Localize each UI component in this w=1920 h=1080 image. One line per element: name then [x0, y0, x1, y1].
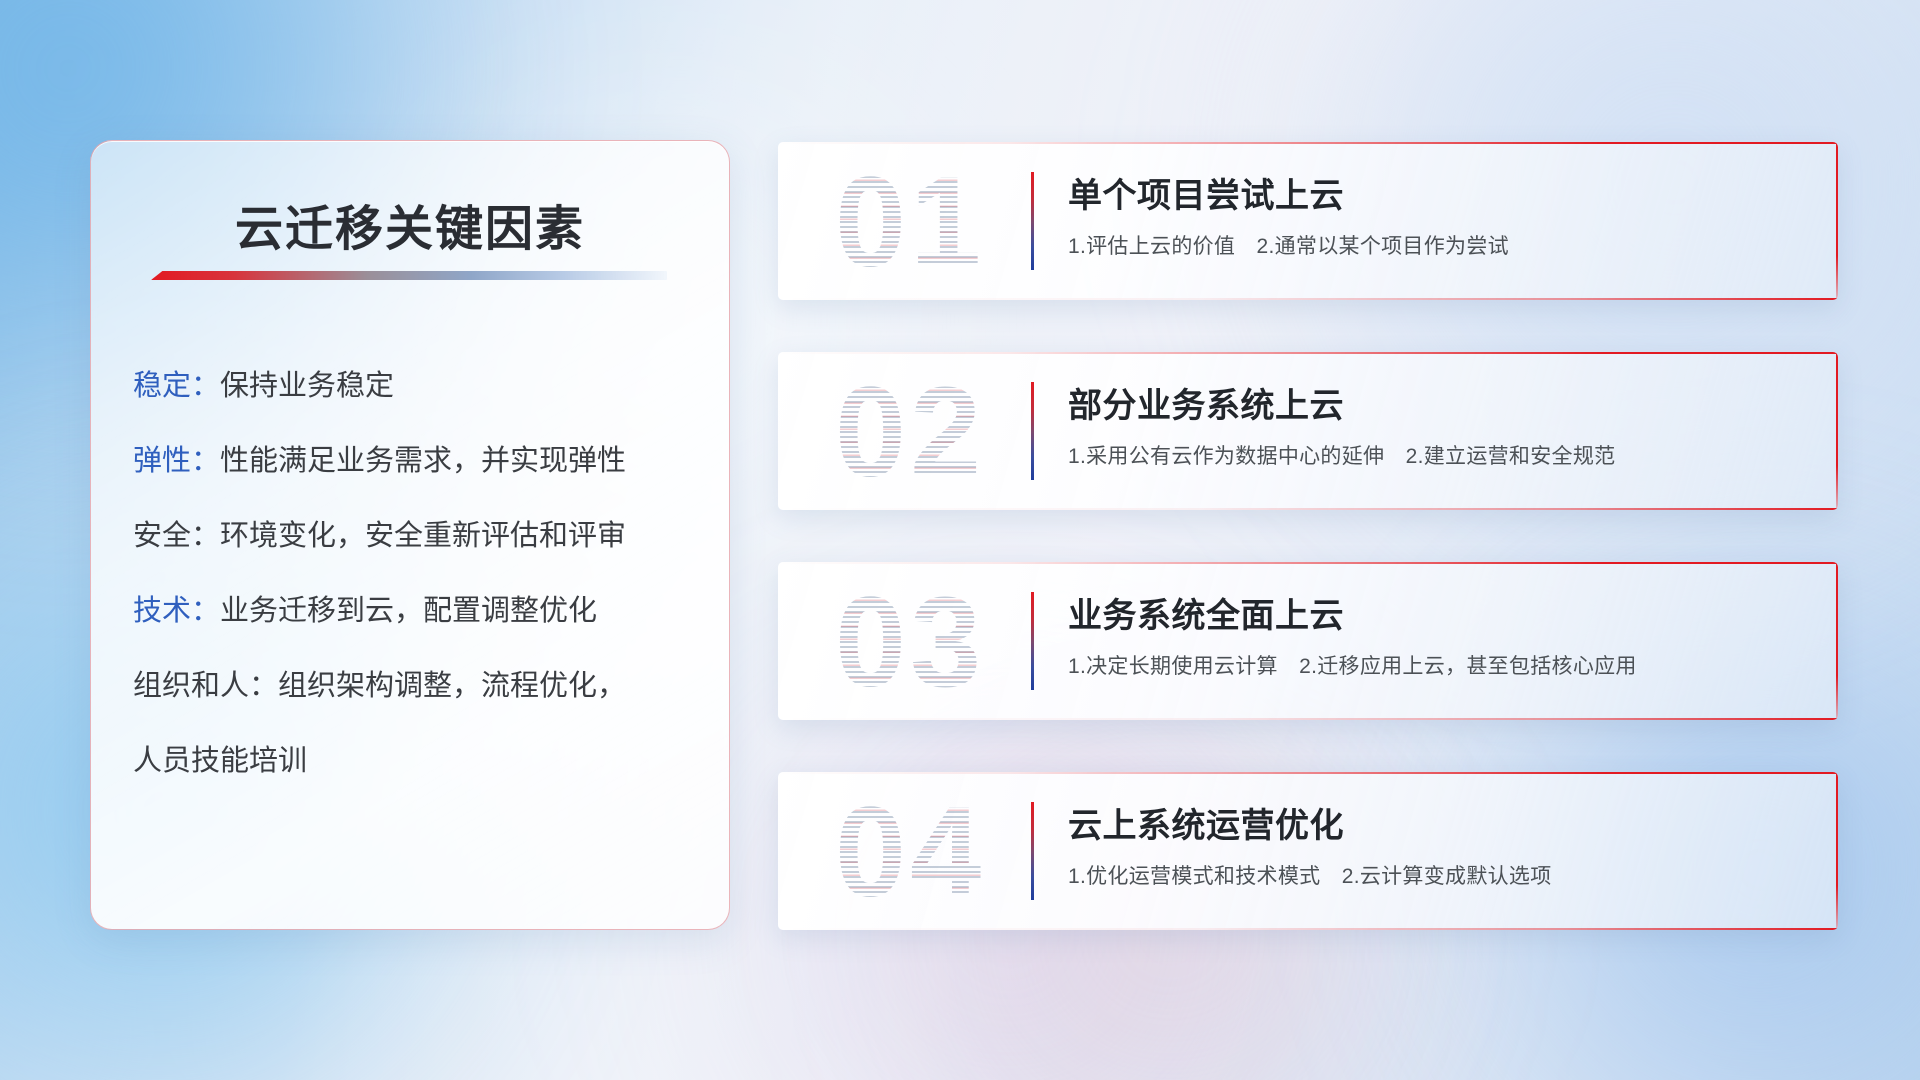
card-title: 单个项目尝试上云: [1068, 168, 1344, 217]
card-title: 部分业务系统上云: [1068, 378, 1344, 427]
list-item-key: 安全：: [133, 520, 220, 552]
list-item-value: 性能满足业务需求，并实现弹性: [220, 445, 626, 477]
card-accent-right: [1836, 352, 1838, 510]
card-subtitle: 1.评估上云的价值 2.通常以某个项目作为尝试: [1068, 230, 1509, 260]
slide-stage: 云迁移关键因素 稳定：保持业务稳定 弹性：性能满足业务需求，并实现弹性 安全：环…: [0, 0, 1920, 1080]
list-item-value: 保持业务稳定: [220, 370, 394, 402]
key-factors-panel: 云迁移关键因素 稳定：保持业务稳定 弹性：性能满足业务需求，并实现弹性 安全：环…: [90, 140, 730, 930]
stage-card-02[interactable]: 02 02 部分业务系统上云 1.采用公有云作为数据中心的延伸 2.建立运营和安…: [778, 352, 1838, 510]
card-accent-bottom: [778, 928, 1838, 930]
card-divider: [1031, 172, 1034, 270]
card-subtitle: 1.采用公有云作为数据中心的延伸 2.建立运营和安全规范: [1068, 440, 1615, 470]
card-accent-right: [1836, 772, 1838, 930]
list-item-key: 弹性：: [133, 445, 220, 477]
list-item-key: 组织和人：: [133, 670, 278, 702]
list-item: 弹性：性能满足业务需求，并实现弹性: [133, 424, 695, 499]
card-number-watermark-tint: 03: [800, 568, 1020, 718]
card-divider: [1031, 382, 1034, 480]
list-item-value: 人员技能培训: [133, 745, 307, 777]
list-item: 组织和人：组织架构调整，流程优化，: [133, 649, 695, 724]
page-title: 云迁移关键因素: [91, 189, 729, 259]
list-item: 稳定：保持业务稳定: [133, 349, 695, 424]
list-item-value: 环境变化，安全重新评估和评审: [220, 520, 626, 552]
list-item-key: 稳定：: [133, 370, 220, 402]
list-item: 安全：环境变化，安全重新评估和评审: [133, 499, 695, 574]
card-number-watermark-tint: 01: [800, 148, 1020, 298]
title-underline-rule: [151, 271, 667, 280]
card-accent-bottom: [778, 508, 1838, 510]
card-accent-top: [778, 352, 1838, 354]
card-accent-bottom: [778, 298, 1838, 300]
card-accent-right: [1836, 562, 1838, 720]
key-factors-list: 稳定：保持业务稳定 弹性：性能满足业务需求，并实现弹性 安全：环境变化，安全重新…: [133, 349, 695, 799]
card-number-watermark-tint: 04: [800, 778, 1020, 928]
card-divider: [1031, 592, 1034, 690]
list-item: 人员技能培训: [133, 724, 695, 799]
list-item-value: 业务迁移到云，配置调整优化: [220, 595, 597, 627]
card-divider: [1031, 802, 1034, 900]
stage-card-04[interactable]: 04 04 云上系统运营优化 1.优化运营模式和技术模式 2.云计算变成默认选项: [778, 772, 1838, 930]
card-number-watermark-tint: 02: [800, 358, 1020, 508]
card-subtitle: 1.优化运营模式和技术模式 2.云计算变成默认选项: [1068, 860, 1552, 890]
stage-card-01[interactable]: 01 01 单个项目尝试上云 1.评估上云的价值 2.通常以某个项目作为尝试: [778, 142, 1838, 300]
card-accent-bottom: [778, 718, 1838, 720]
card-accent-top: [778, 562, 1838, 564]
card-accent-top: [778, 772, 1838, 774]
card-title: 业务系统全面上云: [1068, 588, 1344, 637]
card-accent-top: [778, 142, 1838, 144]
card-subtitle: 1.决定长期使用云计算 2.迁移应用上云，甚至包括核心应用: [1068, 650, 1637, 680]
list-item: 技术：业务迁移到云，配置调整优化: [133, 574, 695, 649]
list-item-key: 技术：: [133, 595, 220, 627]
stage-card-03[interactable]: 03 03 业务系统全面上云 1.决定长期使用云计算 2.迁移应用上云，甚至包括…: [778, 562, 1838, 720]
card-title: 云上系统运营优化: [1068, 798, 1344, 847]
list-item-value: 组织架构调整，流程优化，: [278, 670, 626, 702]
card-accent-right: [1836, 142, 1838, 300]
